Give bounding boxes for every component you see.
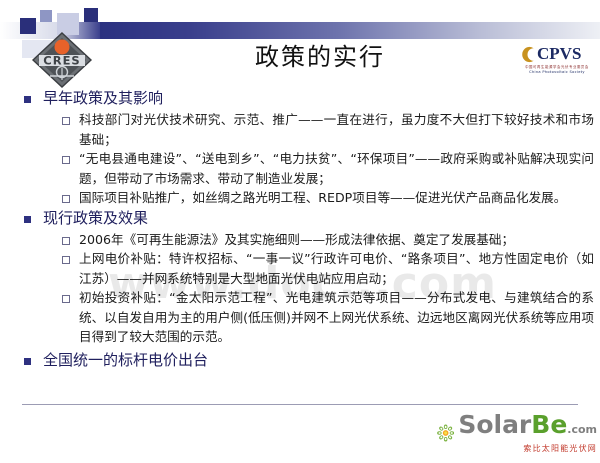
outline-level1-item: 全国统一的标杆电价出台 bbox=[0, 350, 600, 371]
outline-level2-text: 2006年《可再生能源法》及其实施细则——形成法律依据、奠定了发展基础； bbox=[79, 230, 514, 250]
outline-level2-text: 上网电价补贴：特许权招标、“一事一议”行政许可电价、“路条项目”、地方性固定电价… bbox=[79, 249, 594, 288]
cpvs-english-name: China Photovoltaic Society bbox=[519, 70, 595, 75]
solarbe-name: SolarBe.com bbox=[458, 412, 597, 443]
bullet-square-icon bbox=[24, 358, 31, 365]
bullet-hollow-square-icon bbox=[62, 237, 70, 245]
cres-logo-icon: CRES bbox=[30, 30, 94, 90]
outline-level2-item: 初始投资补贴：“金太阳示范工程”、光电建筑示范等项目——分布式发电、与建筑结合的… bbox=[0, 288, 600, 347]
outline-level1-item: 现行政策及效果 bbox=[0, 208, 600, 229]
solarbe-wordmark: SolarBe.com 索比太阳能光伏网 bbox=[458, 412, 597, 454]
outline-level1-text: 全国统一的标杆电价出台 bbox=[43, 350, 208, 371]
solarbe-logo: SolarBe.com 索比太阳能光伏网 bbox=[437, 412, 597, 454]
cres-logo: CRES bbox=[30, 30, 94, 90]
bullet-hollow-square-icon bbox=[62, 156, 70, 164]
outline-level2-item: 2006年《可再生能源法》及其实施细则——形成法律依据、奠定了发展基础； bbox=[0, 230, 600, 250]
outline-level2-item: 上网电价补贴：特许权招标、“一事一议”行政许可电价、“路条项目”、地方性固定电价… bbox=[0, 249, 600, 288]
outline-level2-text: “无电县通电建设”、“送电到乡”、“电力扶贫”、“环保项目”——政府采购或补贴解… bbox=[79, 149, 594, 188]
bullet-square-icon bbox=[24, 216, 31, 223]
footer-divider bbox=[22, 404, 578, 405]
solarbe-name-solar: Solar bbox=[458, 410, 531, 439]
header-band bbox=[100, 22, 600, 39]
cpvs-logo-row: CPVS bbox=[519, 43, 595, 65]
outline-level2-item: 科技部门对光伏技术研究、示范、推广——一直在进行，虽力度不大但打下较好技术和市场… bbox=[0, 110, 600, 149]
page-title: 政策的实行 bbox=[160, 42, 480, 72]
cpvs-logo: CPVS 中国可再生能源学会光伏专业委员会 China Photovoltaic… bbox=[519, 43, 595, 77]
outline-level2-text: 科技部门对光伏技术研究、示范、推广——一直在进行，虽力度不大但打下较好技术和市场… bbox=[79, 110, 594, 149]
bullet-hollow-square-icon bbox=[62, 295, 70, 303]
cpvs-ring-icon bbox=[519, 45, 536, 64]
outline-level2-text: 初始投资补贴：“金太阳示范工程”、光电建筑示范等项目——分布式发电、与建筑结合的… bbox=[79, 288, 594, 347]
outline-level1-text: 现行政策及效果 bbox=[43, 208, 148, 229]
presentation-slide: www.doc...com CRES 政策的实行 CPVS 中国可再生能源学会光… bbox=[0, 0, 600, 463]
outline-level1-text: 早年政策及其影响 bbox=[43, 88, 163, 109]
solarbe-domain: .com bbox=[567, 423, 597, 436]
slide-body: 早年政策及其影响 科技部门对光伏技术研究、示范、推广——一直在进行，虽力度不大但… bbox=[0, 88, 600, 372]
solarbe-chinese-name: 索比太阳能光伏网 bbox=[458, 444, 597, 454]
outline-level1-item: 早年政策及其影响 bbox=[0, 88, 600, 109]
bullet-square-icon bbox=[24, 96, 31, 103]
decorative-square-mid bbox=[40, 10, 52, 22]
decorative-square-navy-2 bbox=[84, 8, 98, 22]
outline-level2-item: “无电县通电建设”、“送电到乡”、“电力扶贫”、“环保项目”——政府采购或补贴解… bbox=[0, 149, 600, 188]
cpvs-acronym: CPVS bbox=[537, 44, 581, 64]
outline-level2-item: 国际项目补贴推广，如丝绸之路光明工程、REDP项目等——促进光伏产品商品化发展。 bbox=[0, 188, 600, 208]
solarbe-flower-icon bbox=[437, 413, 454, 453]
solarbe-name-be: Be bbox=[531, 410, 567, 439]
bullet-hollow-square-icon bbox=[62, 195, 70, 203]
svg-text:CRES: CRES bbox=[43, 54, 80, 68]
bullet-hollow-square-icon bbox=[62, 256, 70, 264]
outline-level2-text: 国际项目补贴推广，如丝绸之路光明工程、REDP项目等——促进光伏产品商品化发展。 bbox=[79, 188, 566, 208]
bullet-hollow-square-icon bbox=[62, 117, 70, 125]
